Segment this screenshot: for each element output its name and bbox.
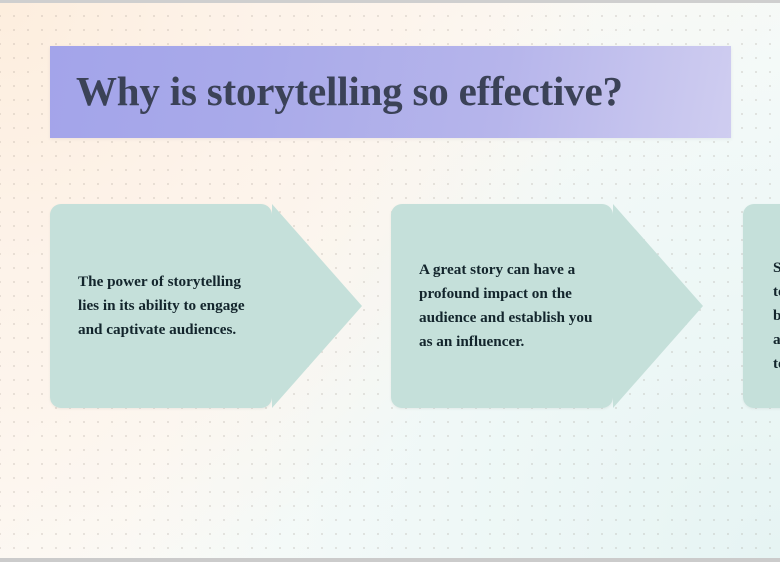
step-card-text-1: The power of storytelling lies in its ab… xyxy=(50,270,272,342)
step-card-1[interactable]: The power of storytelling lies in its ab… xyxy=(50,204,272,408)
slide-title-banner[interactable]: Why is storytelling so effective? xyxy=(50,46,731,138)
process-steps-row: The power of storytelling lies in its ab… xyxy=(0,204,780,409)
arrow-right-icon-2 xyxy=(613,204,703,408)
step-card-text-2: A great story can have a profound impact… xyxy=(391,258,613,354)
process-step-3[interactable]: Storytelling is a powerful tool that can… xyxy=(743,204,780,408)
process-step-2[interactable]: A great story can have a profound impact… xyxy=(391,204,703,408)
step-card-2[interactable]: A great story can have a profound impact… xyxy=(391,204,613,408)
step-card-3[interactable]: Storytelling is a powerful tool that can… xyxy=(743,204,780,408)
arrow-right-icon-1 xyxy=(272,204,362,408)
page-title: Why is storytelling so effective? xyxy=(50,70,623,113)
process-step-1[interactable]: The power of storytelling lies in its ab… xyxy=(50,204,362,408)
slide-canvas: Why is storytelling so effective? The po… xyxy=(0,0,780,562)
step-card-text-3: Storytelling is a powerful tool that can… xyxy=(743,256,780,376)
